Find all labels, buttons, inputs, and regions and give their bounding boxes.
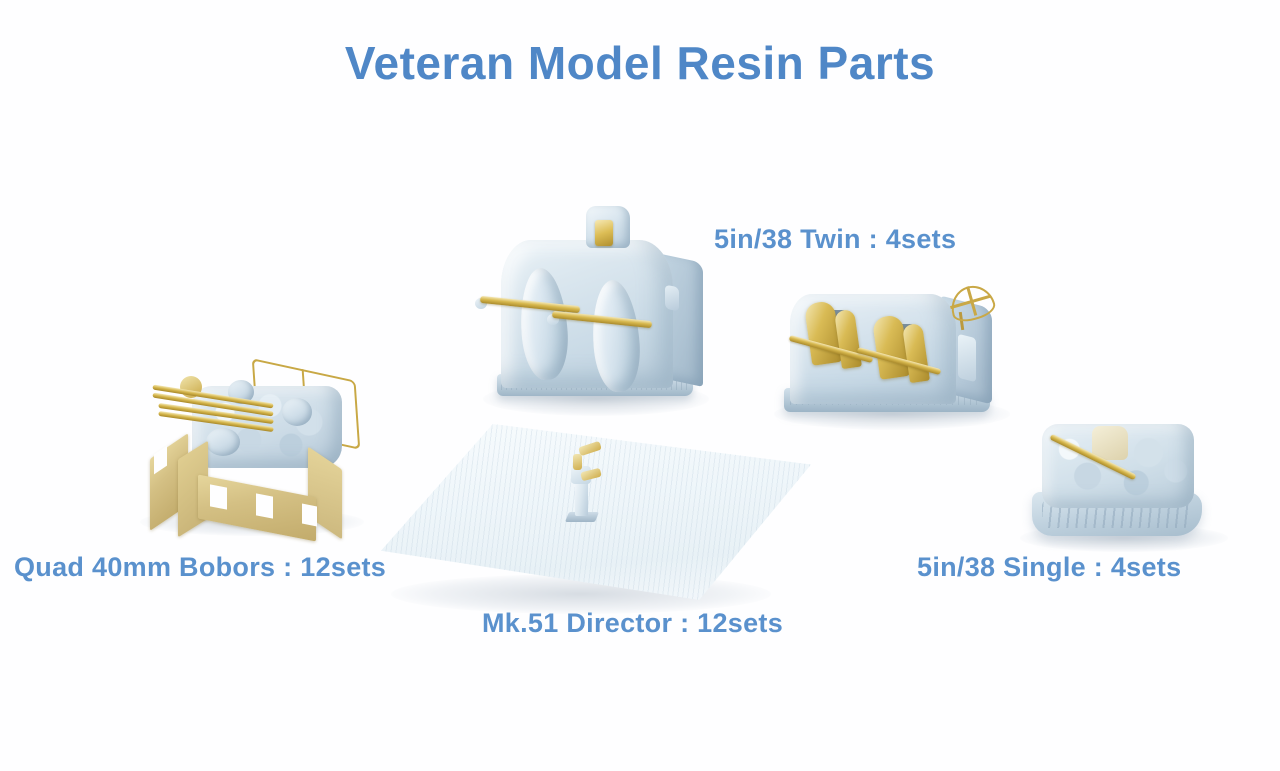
caption-mk51-director: Mk.51 Director : 12sets xyxy=(482,608,783,639)
part-mk51-director xyxy=(381,424,821,614)
part-5in38-twin-front xyxy=(489,206,699,401)
director-pedestal xyxy=(575,482,588,516)
shield-notch xyxy=(256,493,273,518)
part-5in38-twin-rear xyxy=(782,280,1012,440)
shield-notch xyxy=(302,504,317,527)
turret-rear-detail xyxy=(958,334,976,382)
product-photo-stage: Veteran Model Resin Parts 5in/38 Twin : … xyxy=(0,0,1280,771)
page-title: Veteran Model Resin Parts xyxy=(0,36,1280,90)
caption-quad-40mm-bofors: Quad 40mm Bobors : 12sets xyxy=(14,552,386,583)
part-quad-40mm-bofors xyxy=(136,358,376,538)
part-5in38-single xyxy=(1024,424,1224,550)
brass-detail-part xyxy=(595,220,613,246)
brass-director-column xyxy=(573,454,582,470)
caption-5in38-single: 5in/38 Single : 4sets xyxy=(917,552,1181,583)
caption-5in38-twin: 5in/38 Twin : 4sets xyxy=(714,224,956,255)
resin-detail-lump xyxy=(282,398,312,426)
turret-hatch xyxy=(665,285,679,312)
resin-detail-lump xyxy=(206,428,240,456)
shield-notch xyxy=(210,484,227,509)
